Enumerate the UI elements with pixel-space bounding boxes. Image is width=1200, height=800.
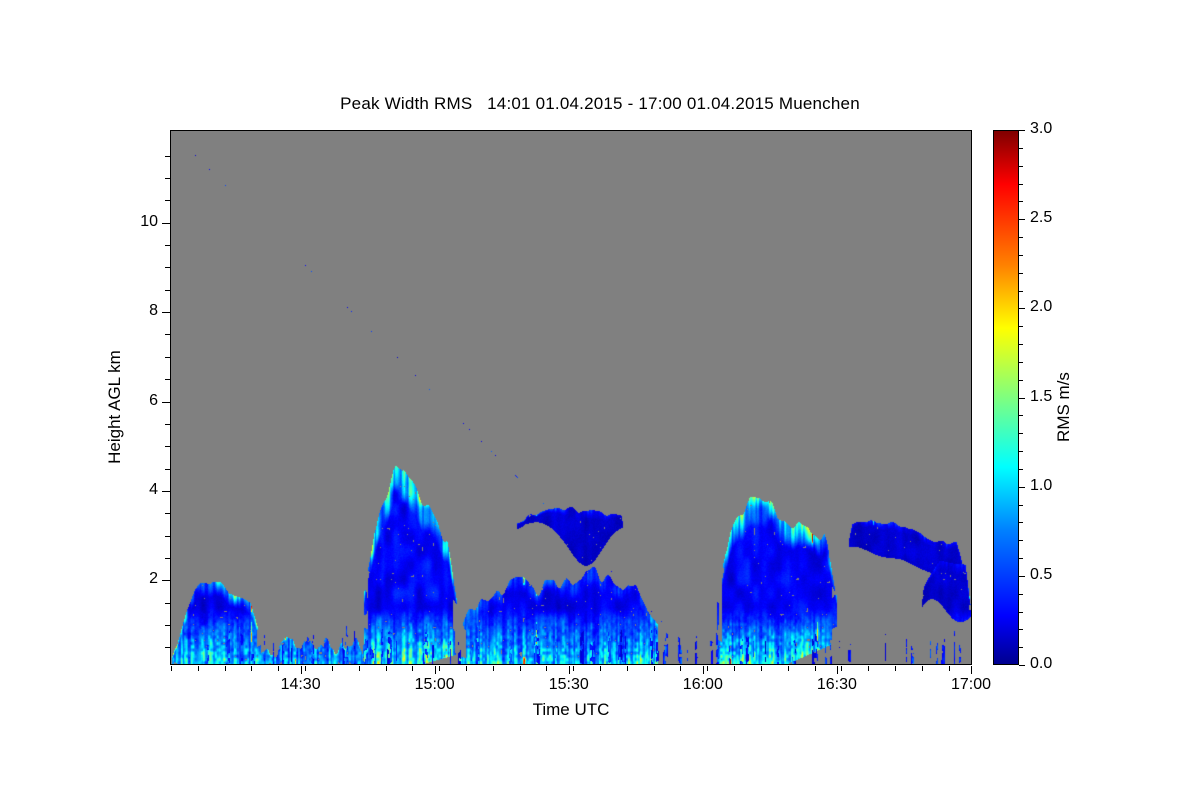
- colorbar-tick-minor: [1019, 148, 1023, 149]
- colorbar-tick-minor: [1019, 505, 1023, 506]
- y-tick-minor: [165, 178, 170, 179]
- colorbar-tick-minor: [1019, 433, 1023, 434]
- colorbar-tick-minor: [1019, 326, 1023, 327]
- x-tick-minor: [278, 666, 279, 671]
- colorbar-tick-minor: [1019, 487, 1023, 488]
- x-tick-major: [435, 666, 436, 674]
- y-tick-major: [162, 580, 170, 581]
- colorbar-tick-minor: [1019, 629, 1023, 630]
- x-tick-label: 15:00: [395, 676, 475, 694]
- x-tick-major: [703, 666, 704, 674]
- x-tick-minor: [654, 666, 655, 671]
- y-tick-minor: [165, 357, 170, 358]
- y-axis-title: Height AGL km: [105, 287, 125, 527]
- x-tick-minor: [493, 666, 494, 671]
- x-axis-title: Time UTC: [170, 700, 972, 720]
- colorbar-tick-minor: [1019, 540, 1023, 541]
- x-tick-major: [569, 666, 570, 674]
- x-tick-minor: [546, 666, 547, 671]
- y-tick-label: 10: [112, 213, 158, 231]
- x-tick-major: [301, 666, 302, 674]
- y-tick-minor: [165, 290, 170, 291]
- x-tick-minor: [627, 666, 628, 671]
- colorbar-tick-minor: [1019, 380, 1023, 381]
- y-tick-major: [162, 312, 170, 313]
- colorbar-tick-minor: [1019, 558, 1023, 559]
- colorbar-tick-label: 1.5: [1030, 388, 1052, 406]
- x-tick-minor: [949, 666, 950, 671]
- colorbar-tick-minor: [1019, 451, 1023, 452]
- x-tick-minor: [466, 666, 467, 671]
- y-tick-minor: [165, 200, 170, 201]
- x-tick-minor: [573, 666, 574, 671]
- y-tick-minor: [165, 469, 170, 470]
- colorbar-tick-minor: [1019, 166, 1023, 167]
- colorbar-tick-minor: [1019, 201, 1023, 202]
- colorbar-tick-label: 2.0: [1030, 298, 1052, 316]
- colorbar-tick-minor: [1019, 469, 1023, 470]
- x-tick-label: 14:30: [261, 676, 341, 694]
- colorbar-tick: [1019, 308, 1025, 309]
- y-tick-major: [162, 223, 170, 224]
- x-tick-minor: [439, 666, 440, 671]
- y-tick-minor: [165, 513, 170, 514]
- colorbar-tick-minor: [1019, 255, 1023, 256]
- colorbar-tick-minor: [1019, 291, 1023, 292]
- y-tick-label: 2: [112, 570, 158, 588]
- y-tick-major: [162, 402, 170, 403]
- x-tick-minor: [868, 666, 869, 671]
- colorbar-tick-minor: [1019, 237, 1023, 238]
- x-tick-minor: [734, 666, 735, 671]
- x-tick-minor: [251, 666, 252, 671]
- colorbar-tick-minor: [1019, 415, 1023, 416]
- heatmap-data-layer: [171, 131, 971, 664]
- x-tick-minor: [520, 666, 521, 671]
- x-tick-minor: [386, 666, 387, 671]
- y-tick-minor: [165, 334, 170, 335]
- colorbar-tick: [1019, 398, 1025, 399]
- colorbar-gradient: [993, 130, 1019, 665]
- figure-canvas: Peak Width RMS 14:01 01.04.2015 - 17:00 …: [0, 0, 1200, 800]
- colorbar-tick-minor: [1019, 273, 1023, 274]
- colorbar-tick: [1019, 576, 1025, 577]
- x-tick-minor: [171, 666, 172, 671]
- x-tick-label: 15:30: [529, 676, 609, 694]
- y-tick-minor: [165, 424, 170, 425]
- colorbar-tick-minor: [1019, 522, 1023, 523]
- x-tick-label: 17:00: [931, 676, 1011, 694]
- x-tick-minor: [198, 666, 199, 671]
- x-tick-minor: [600, 666, 601, 671]
- x-tick-minor: [761, 666, 762, 671]
- y-tick-major: [162, 491, 170, 492]
- colorbar-tick-minor: [1019, 362, 1023, 363]
- y-tick-minor: [165, 536, 170, 537]
- colorbar-tick: [1019, 665, 1025, 666]
- colorbar-tick-minor: [1019, 184, 1023, 185]
- colorbar-tick-minor: [1019, 612, 1023, 613]
- y-tick-minor: [165, 558, 170, 559]
- x-tick-minor: [895, 666, 896, 671]
- x-tick-minor: [707, 666, 708, 671]
- y-tick-minor: [165, 267, 170, 268]
- x-tick-label: 16:00: [663, 676, 743, 694]
- colorbar-tick-minor: [1019, 594, 1023, 595]
- y-tick-minor: [165, 245, 170, 246]
- y-tick-minor: [165, 156, 170, 157]
- colorbar-tick: [1019, 219, 1025, 220]
- colorbar-title: RMS m/s: [1054, 287, 1074, 527]
- x-tick-minor: [412, 666, 413, 671]
- chart-title: Peak Width RMS 14:01 01.04.2015 - 17:00 …: [0, 94, 1200, 114]
- colorbar-tick: [1019, 130, 1025, 131]
- colorbar-tick-label: 0.0: [1030, 655, 1052, 673]
- x-tick-minor: [332, 666, 333, 671]
- x-tick-minor: [922, 666, 923, 671]
- x-tick-label: 16:30: [797, 676, 877, 694]
- y-tick-minor: [165, 625, 170, 626]
- x-tick-minor: [841, 666, 842, 671]
- x-tick-minor: [359, 666, 360, 671]
- colorbar-tick-minor: [1019, 344, 1023, 345]
- x-tick-minor: [788, 666, 789, 671]
- colorbar-tick-label: 1.0: [1030, 477, 1052, 495]
- colorbar-tick-label: 3.0: [1030, 120, 1052, 138]
- colorbar-tick-label: 0.5: [1030, 566, 1052, 584]
- y-tick-minor: [165, 379, 170, 380]
- colorbar-tick-minor: [1019, 647, 1023, 648]
- x-tick-minor: [225, 666, 226, 671]
- y-tick-minor: [165, 603, 170, 604]
- colorbar-tick-label: 2.5: [1030, 209, 1052, 227]
- x-tick-minor: [680, 666, 681, 671]
- x-tick-minor: [815, 666, 816, 671]
- x-tick-minor: [305, 666, 306, 671]
- y-tick-minor: [165, 647, 170, 648]
- x-tick-major: [971, 666, 972, 674]
- y-tick-minor: [165, 446, 170, 447]
- x-tick-major: [837, 666, 838, 674]
- heatmap-plot-area[interactable]: [170, 130, 972, 665]
